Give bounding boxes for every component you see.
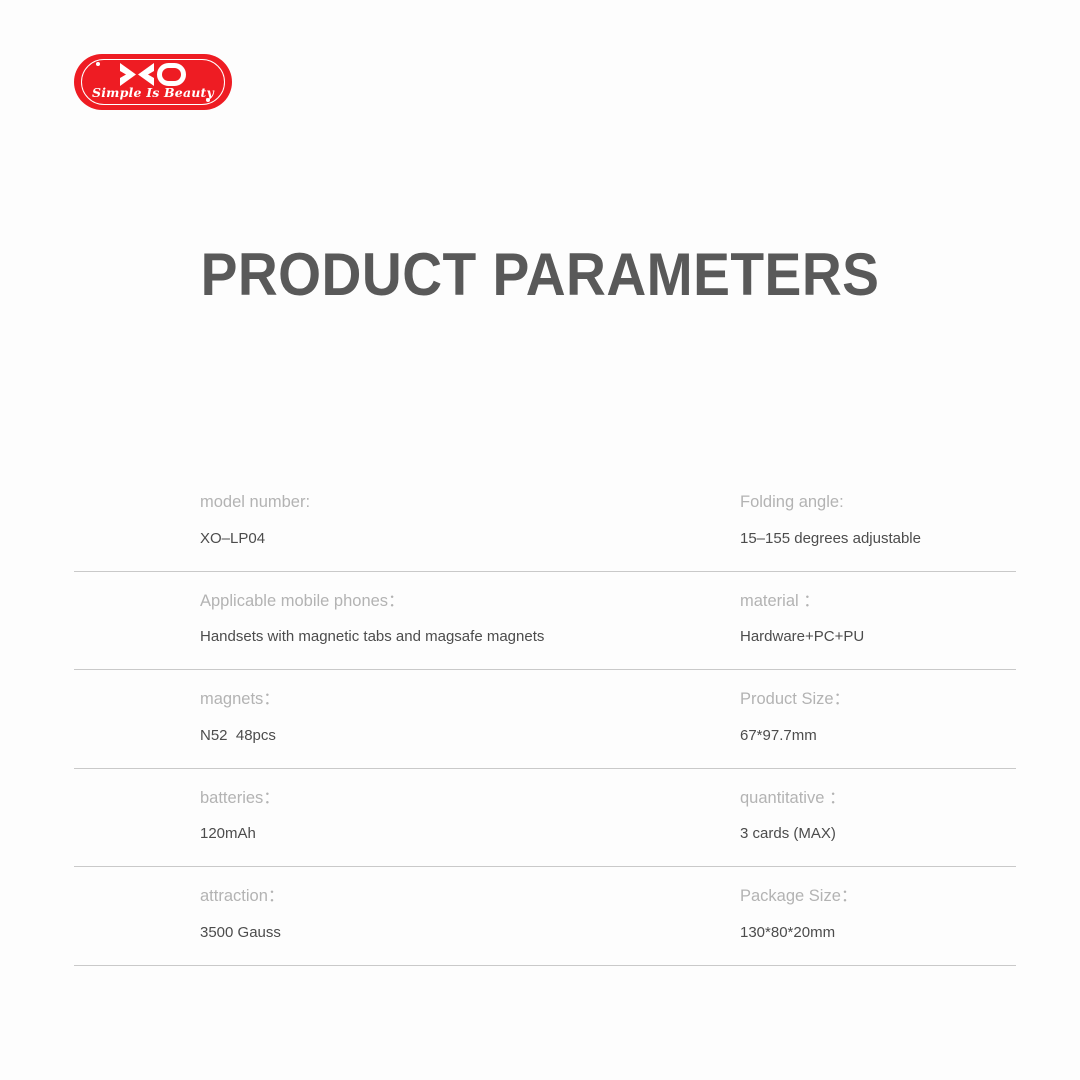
spec-cell-product-size: Product Size： 67*97.7mm: [614, 670, 1016, 768]
spec-label: magnets：: [200, 691, 614, 708]
spec-value: 15–155 degrees adjustable: [740, 531, 1016, 546]
spec-value: 3500 Gauss: [200, 925, 614, 940]
spec-label: Folding angle:: [740, 494, 1016, 511]
spec-value: N52 48pcs: [200, 728, 614, 743]
logo-letter-x-icon: [120, 63, 154, 86]
spec-label: material ：: [740, 593, 1016, 610]
spec-cell-applicable-mobile-phones: Applicable mobile phones： Handsets with …: [74, 572, 614, 670]
logo-letter-o-icon: [157, 63, 186, 86]
spec-value: XO–LP04: [200, 531, 614, 546]
spec-cell-quantitative: quantitative ： 3 cards (MAX): [614, 769, 1016, 867]
spec-cell-folding-angle: Folding angle: 15–155 degrees adjustable: [614, 473, 1016, 571]
spec-label: quantitative ：: [740, 790, 1016, 807]
spec-value: Hardware+PC+PU: [740, 629, 1016, 644]
table-row: magnets： N52 48pcs Product Size： 67*97.7…: [74, 670, 1016, 769]
spec-value: 67*97.7mm: [740, 728, 1016, 743]
brand-logo: Simple Is Beauty: [74, 54, 232, 110]
spec-cell-model-number: model number: XO–LP04: [74, 473, 614, 571]
spec-value: 130*80*20mm: [740, 925, 1016, 940]
table-row: batteries： 120mAh quantitative ： 3 cards…: [74, 769, 1016, 868]
spec-value: 120mAh: [200, 826, 614, 841]
logo-tagline: Simple Is Beauty: [74, 85, 232, 100]
spec-value: Handsets with magnetic tabs and magsafe …: [200, 629, 614, 644]
spec-cell-package-size: Package Size： 130*80*20mm: [614, 867, 1016, 965]
table-row: attraction： 3500 Gauss Package Size： 130…: [74, 867, 1016, 966]
spec-cell-material: material ： Hardware+PC+PU: [614, 572, 1016, 670]
logo-monogram-xo: [74, 61, 232, 88]
spec-label: Package Size：: [740, 888, 1016, 905]
spec-label: Product Size：: [740, 691, 1016, 708]
spec-cell-magnets: magnets： N52 48pcs: [74, 670, 614, 768]
spec-cell-attraction: attraction： 3500 Gauss: [74, 867, 614, 965]
product-parameters-table: model number: XO–LP04 Folding angle: 15–…: [74, 473, 1016, 966]
table-row: Applicable mobile phones： Handsets with …: [74, 572, 1016, 671]
spec-value: 3 cards (MAX): [740, 826, 1016, 841]
table-row: model number: XO–LP04 Folding angle: 15–…: [74, 473, 1016, 572]
spec-label: batteries：: [200, 790, 614, 807]
spec-label: attraction：: [200, 888, 614, 905]
spec-label: Applicable mobile phones：: [200, 593, 614, 610]
spec-cell-batteries: batteries： 120mAh: [74, 769, 614, 867]
page-title: PRODUCT PARAMETERS: [43, 240, 1037, 309]
spec-label: model number:: [200, 494, 614, 511]
